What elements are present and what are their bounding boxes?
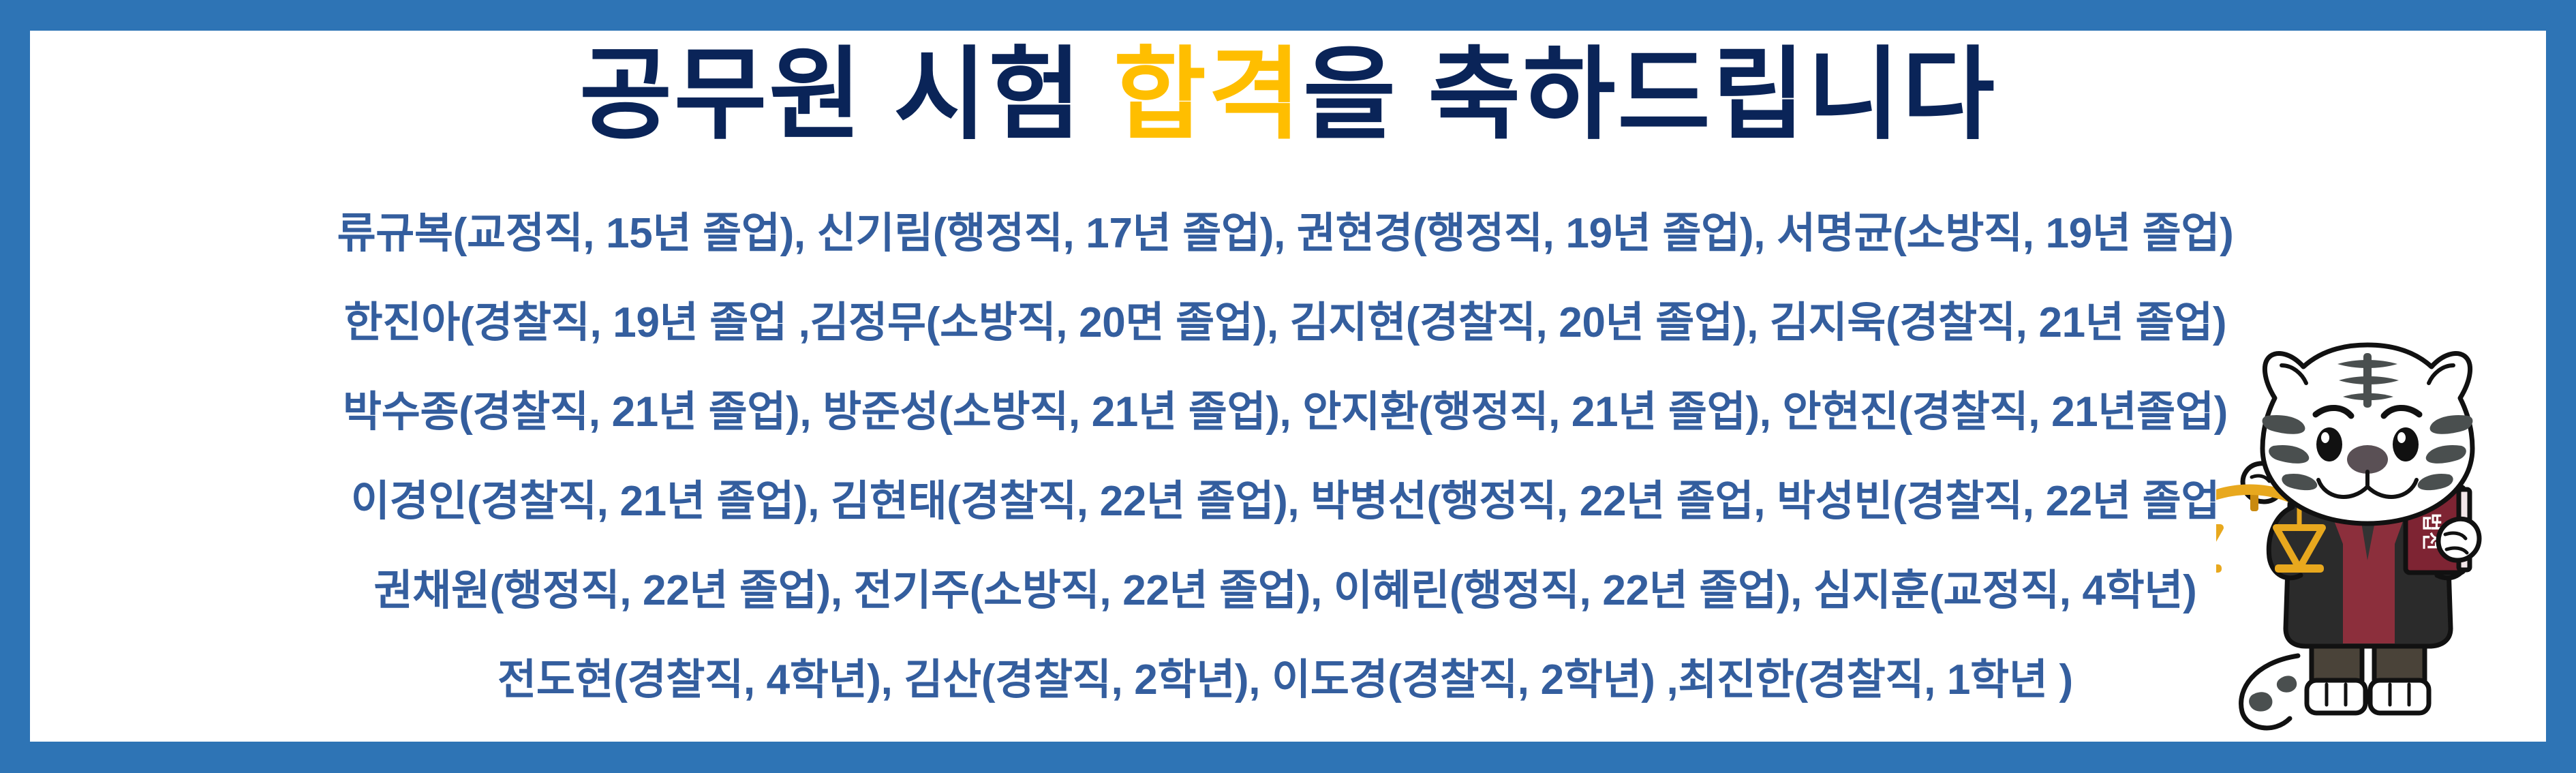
page-title: 공무원 시험 합격을 축하드립니다: [30, 36, 2546, 155]
roster-line: 전도현(경찰직, 4학년), 김산(경찰직, 2학년), 이도경(경찰직, 2학…: [65, 635, 2505, 725]
tiger-judge-mascot-icon: 법전: [2216, 335, 2530, 738]
title-highlight-pass: 합격: [1114, 39, 1303, 151]
roster-line: 이경인(경찰직, 21년 졸업), 김현태(경찰직, 22년 졸업), 박병선(…: [65, 457, 2505, 546]
graduate-roster: 류규복(교정직, 15년 졸업), 신기림(행정직, 17년 졸업), 권현경(…: [30, 189, 2546, 725]
roster-line: 박수종(경찰직, 21년 졸업), 방준성(소방직, 21년 졸업), 안지환(…: [65, 367, 2505, 457]
roster-line: 권채원(행정직, 22년 졸업), 전기주(소방직, 22년 졸업), 이혜린(…: [65, 546, 2505, 635]
celebration-banner: 공무원 시험 합격을 축하드립니다 류규복(교정직, 15년 졸업), 신기림(…: [0, 0, 2576, 773]
roster-line: 류규복(교정직, 15년 졸업), 신기림(행정직, 17년 졸업), 권현경(…: [65, 189, 2505, 278]
title-part-2: 을 축하드립니다: [1303, 39, 1997, 151]
banner-inner-frame: 공무원 시험 합격을 축하드립니다 류규복(교정직, 15년 졸업), 신기림(…: [30, 31, 2546, 742]
roster-line: 한진아(경찰직, 19년 졸업 ,김정무(소방직, 20면 졸업), 김지현(경…: [65, 278, 2505, 367]
title-part-1: 공무원 시험: [579, 39, 1114, 151]
tiger-judge-mascot: 법전: [2216, 335, 2530, 738]
